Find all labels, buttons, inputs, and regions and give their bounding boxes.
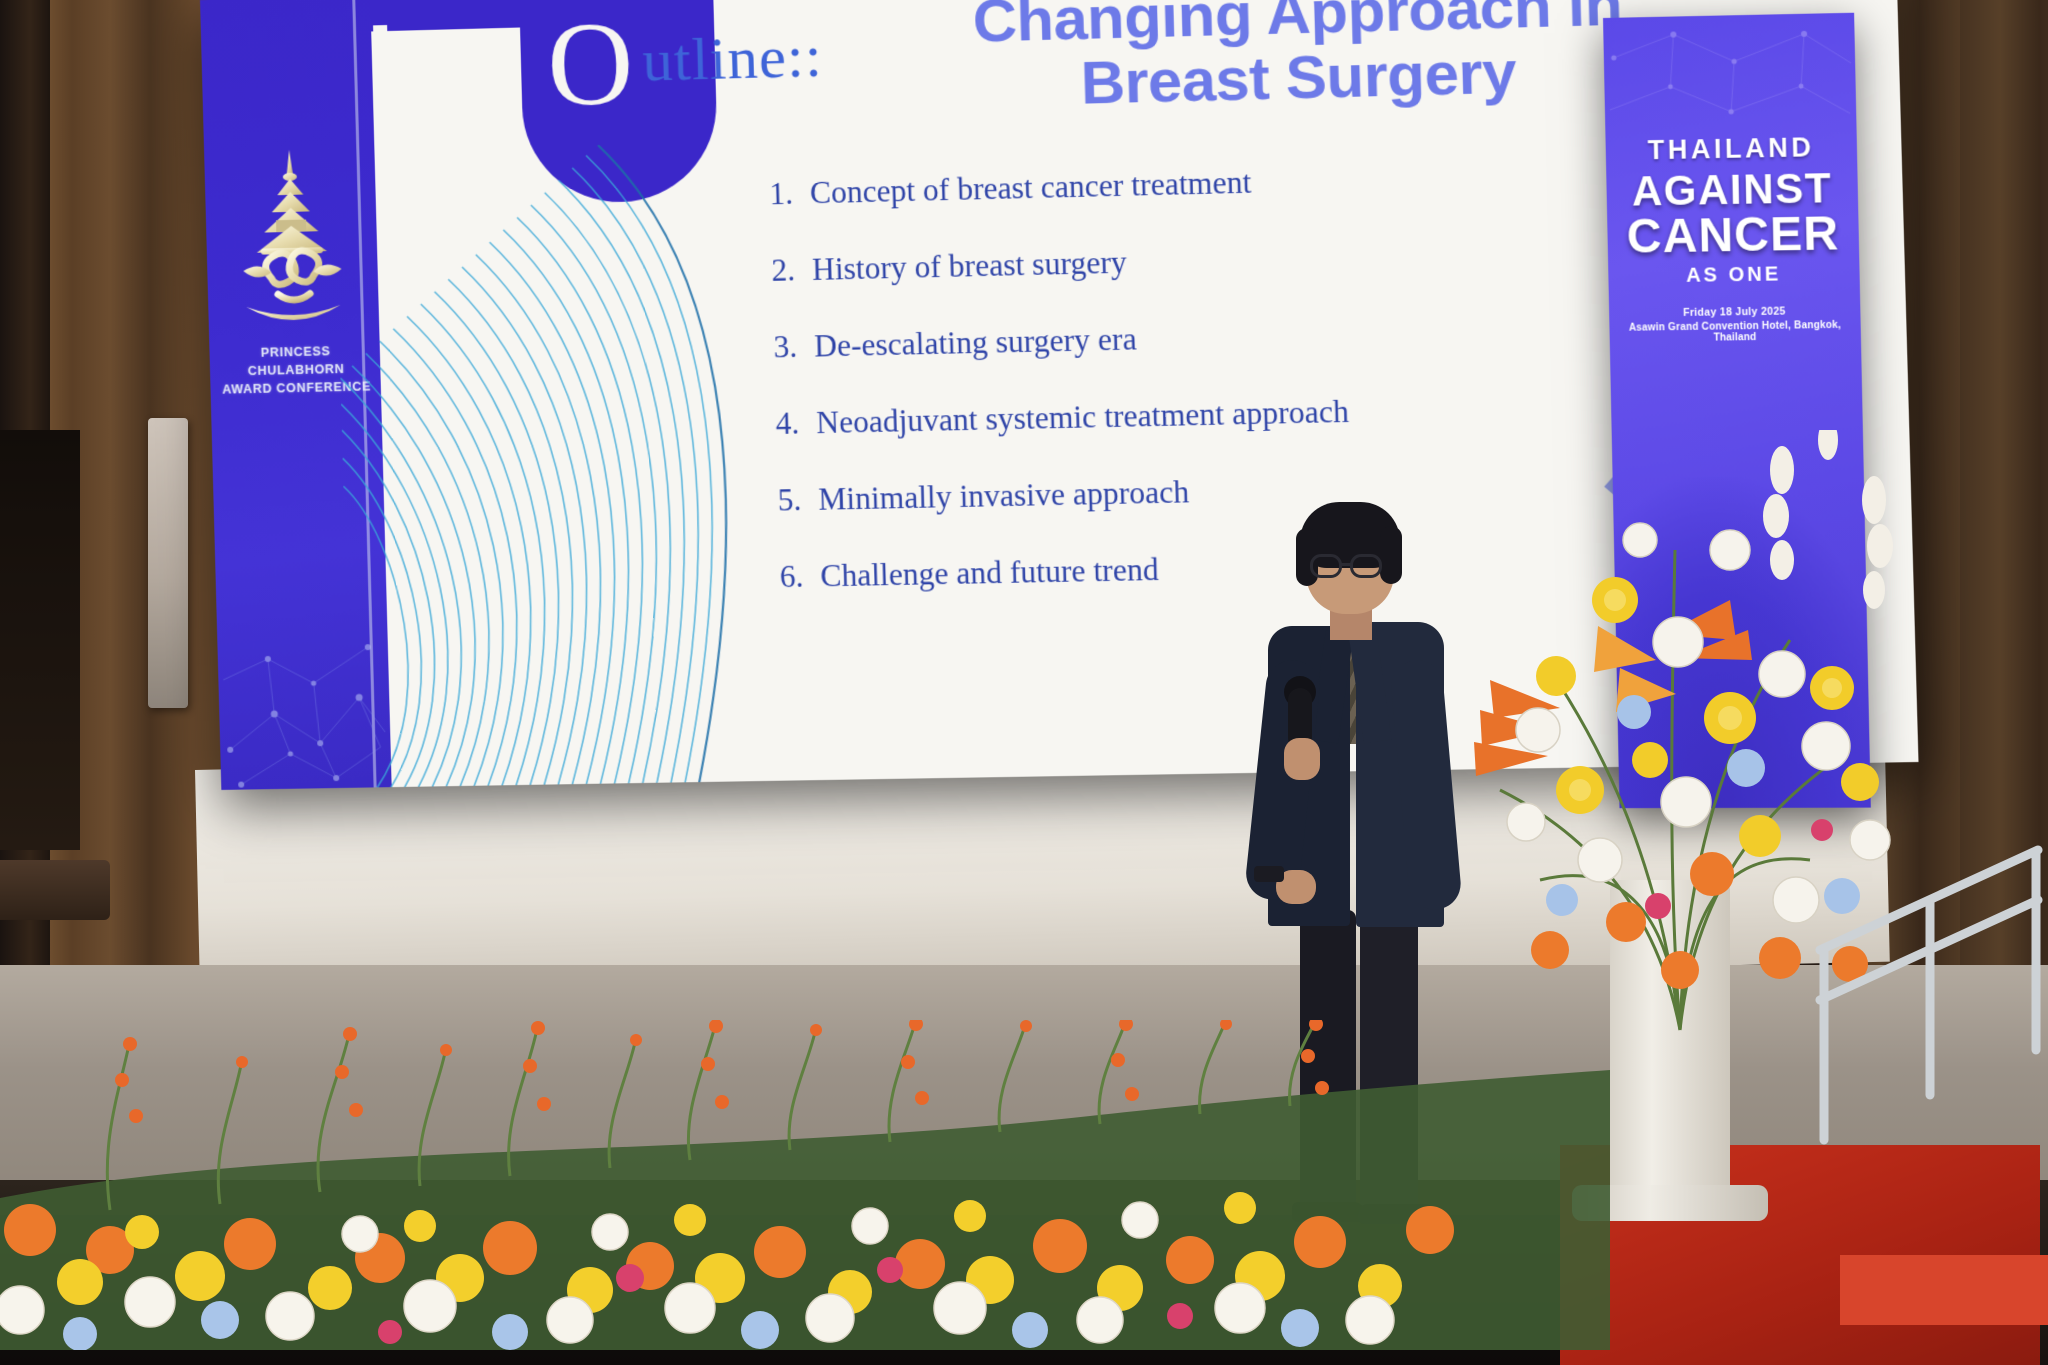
slide-outline-word: utline:: [641,23,823,94]
glasses-bridge [1341,563,1353,566]
poster-line-thailand: THAILAND [1605,131,1857,167]
slide-top-band [370,0,532,31]
list-item-number: 1. [769,175,811,212]
presentation-clicker-icon [1254,866,1284,882]
presenter-hand-right [1284,738,1320,780]
list-item-number: 4. [775,405,817,442]
poster-line-asone: AS ONE [1608,262,1860,289]
list-item-text: De-escalating surgery era [814,321,1137,364]
wall-loudspeaker [148,418,188,708]
list-item: 4.Neoadjuvant systemic treatment approac… [775,390,1534,443]
slide-drop-cap: O [546,0,637,131]
list-item-text: Neoadjuvant systemic treatment approach [816,394,1350,441]
presenter-hair-side-right [1380,526,1402,584]
red-step [1840,1255,2048,1325]
list-item-number: 6. [779,558,821,595]
poster-line-cancer: CANCER [1607,206,1859,265]
glasses-icon [1350,554,1382,578]
list-item-number: 2. [771,252,813,289]
list-item-number: 5. [777,482,819,519]
side-ledge [0,860,110,920]
list-item-number: 3. [773,328,815,365]
floral-row-stage-edge [0,1020,1610,1350]
list-item-text: Challenge and future trend [820,552,1159,594]
slide-title: Changing Approach in Breast Surgery [906,0,1691,119]
photo-scene: PRINCESS CHULABHORN AWARD CONFERENCE [0,0,2048,1365]
list-item: 2.History of breast surgery [771,235,1530,289]
list-item: 3.De-escalating surgery era [773,312,1532,365]
wall-alcove [0,430,80,850]
glasses-icon [1310,554,1342,578]
slide-white-tick [373,25,391,166]
list-item-text: History of breast surgery [812,244,1128,287]
list-item-text: Minimally invasive approach [818,474,1190,517]
slide-outline-heading: Outline:: [554,21,823,97]
poster-venue: Asawin Grand Convention Hotel, Bangkok, … [1609,320,1861,345]
handrail [1810,840,2048,1170]
